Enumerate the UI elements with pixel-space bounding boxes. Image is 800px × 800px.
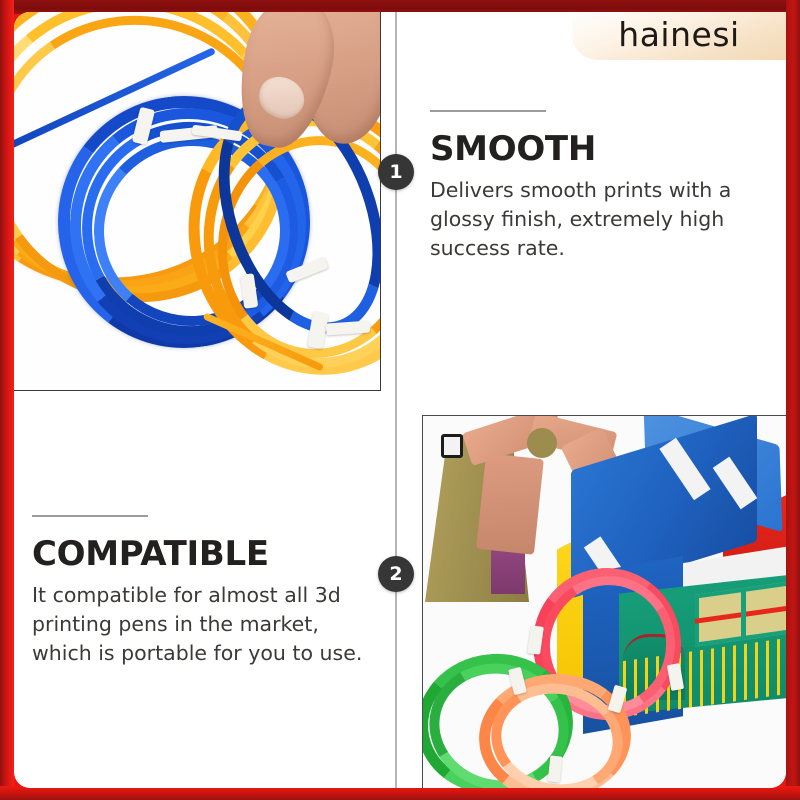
frame-bottom-edge [0,786,800,800]
house-window-bar [741,588,746,641]
windmill-blade [476,453,544,555]
feature-block-compatible: COMPATIBLE It compatible for almost all … [32,515,372,668]
windmill-window [441,434,463,458]
feature-body-smooth: Delivers smooth prints with a glossy fin… [430,176,760,263]
brand-logo-badge: hainesi [572,12,786,60]
coil-photo-stage [14,12,380,390]
feature-body-compatible: It compatible for almost all 3d printing… [32,581,372,668]
photo-3d-pen-printed-models [422,415,786,788]
feature-title-compatible: COMPATIBLE [32,537,372,573]
feature-block-smooth: SMOOTH Delivers smooth prints with a glo… [430,110,760,263]
photo-filament-coils-in-hand [14,12,381,391]
content-canvas: SMOOTH Delivers smooth prints with a glo… [14,12,786,788]
feature-title-smooth: SMOOTH [430,132,760,168]
product-infographic-poster: SMOOTH Delivers smooth prints with a glo… [0,0,800,800]
title-rule [32,515,148,517]
step-badge-2: 2 [378,556,414,592]
frame-right-edge [786,0,800,800]
vertical-divider [395,12,397,788]
title-rule [430,110,546,112]
brand-name: hainesi [618,18,739,54]
thumbnail [252,70,311,126]
step-badge-1: 1 [378,154,414,190]
frame-left-edge [0,0,14,800]
model-photo-stage [423,416,786,788]
windmill-hub [527,428,557,458]
hand-holding-filament [236,12,381,182]
